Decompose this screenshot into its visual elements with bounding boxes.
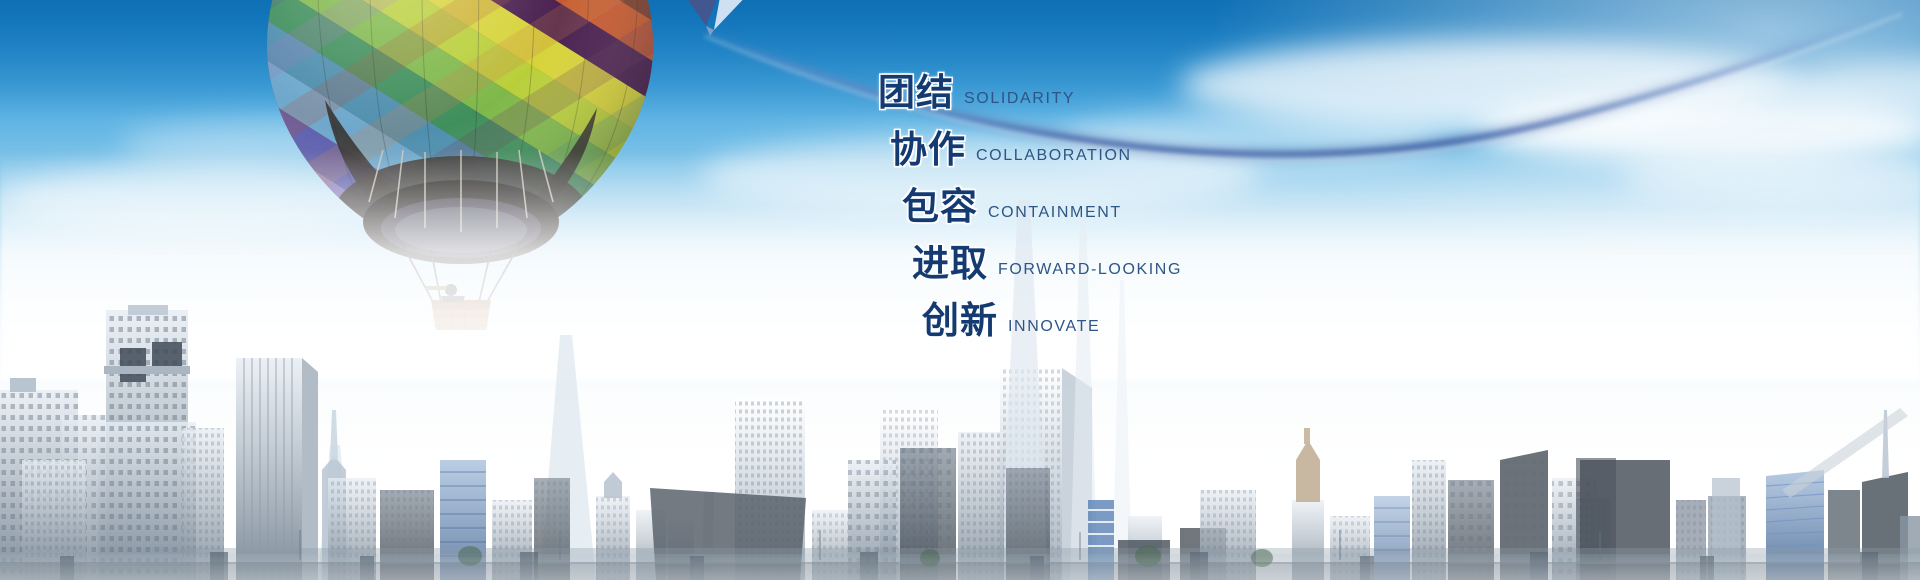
slogan-row-1: 团结 SOLIDARITY	[878, 62, 1380, 119]
slogan-row-4: 进取 FORWARD-LOOKING	[912, 233, 1380, 290]
slogan-cn-5: 创新	[922, 290, 998, 344]
slogan-cn-4: 进取	[912, 233, 988, 287]
hero-banner: 团结 SOLIDARITY 协作 COLLABORATION 包容 CONTAI…	[0, 0, 1920, 580]
paper-plane-icon	[676, 0, 756, 44]
slogan-row-5: 创新 INNOVATE	[922, 290, 1380, 347]
slogan-en-4: FORWARD-LOOKING	[998, 261, 1182, 279]
slogan-row-2: 协作 COLLABORATION	[890, 119, 1380, 176]
slogan-en-3: CONTAINMENT	[988, 204, 1122, 222]
slogan-en-5: INNOVATE	[1008, 318, 1100, 336]
slogan-cn-3: 包容	[902, 176, 978, 230]
slogan-cn-2: 协作	[890, 119, 966, 173]
slogan-cn-1: 团结	[878, 62, 954, 116]
slogan-block: 团结 SOLIDARITY 协作 COLLABORATION 包容 CONTAI…	[860, 62, 1380, 347]
slogan-en-1: SOLIDARITY	[964, 90, 1075, 108]
slogan-row-3: 包容 CONTAINMENT	[902, 176, 1380, 233]
slogan-en-2: COLLABORATION	[976, 147, 1132, 165]
